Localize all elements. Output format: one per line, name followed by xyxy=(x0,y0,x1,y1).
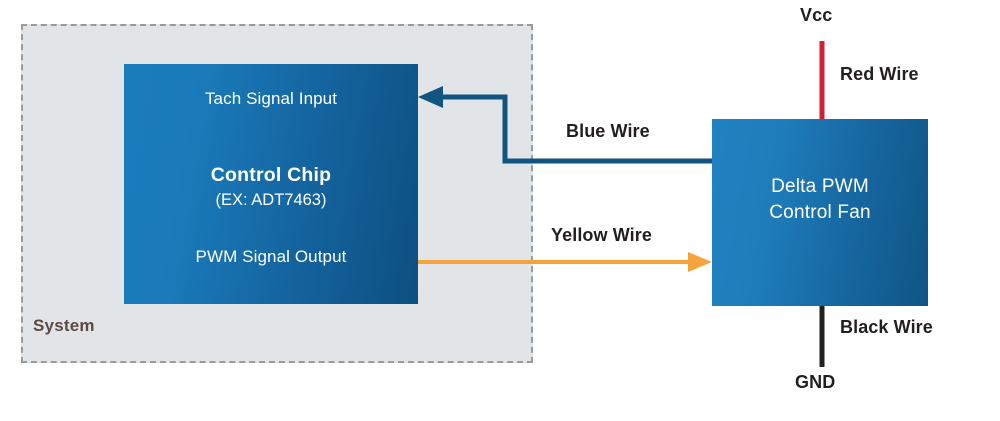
control-chip-block: Tach Signal Input Control Chip (EX: ADT7… xyxy=(124,64,418,304)
fan-label-line2: Control Fan xyxy=(712,202,928,224)
vcc-label: Vcc xyxy=(800,5,832,26)
control-chip-name: Control Chip xyxy=(124,164,418,187)
gnd-label: GND xyxy=(795,372,835,393)
red-wire-label: Red Wire xyxy=(840,64,919,85)
yellow-wire-label: Yellow Wire xyxy=(551,225,652,246)
pwm-signal-output-label: PWM Signal Output xyxy=(124,247,418,267)
diagram-canvas: System Tach Signal Input Control Chip (E… xyxy=(0,0,1000,421)
delta-pwm-control-fan-block: Delta PWM Control Fan xyxy=(712,119,928,306)
black-wire-label: Black Wire xyxy=(840,317,933,338)
blue-wire-label: Blue Wire xyxy=(566,121,650,142)
control-chip-part-number: (EX: ADT7463) xyxy=(124,191,418,210)
fan-label-line1: Delta PWM xyxy=(712,176,928,198)
system-label: System xyxy=(33,316,95,336)
tach-signal-input-label: Tach Signal Input xyxy=(124,89,418,109)
